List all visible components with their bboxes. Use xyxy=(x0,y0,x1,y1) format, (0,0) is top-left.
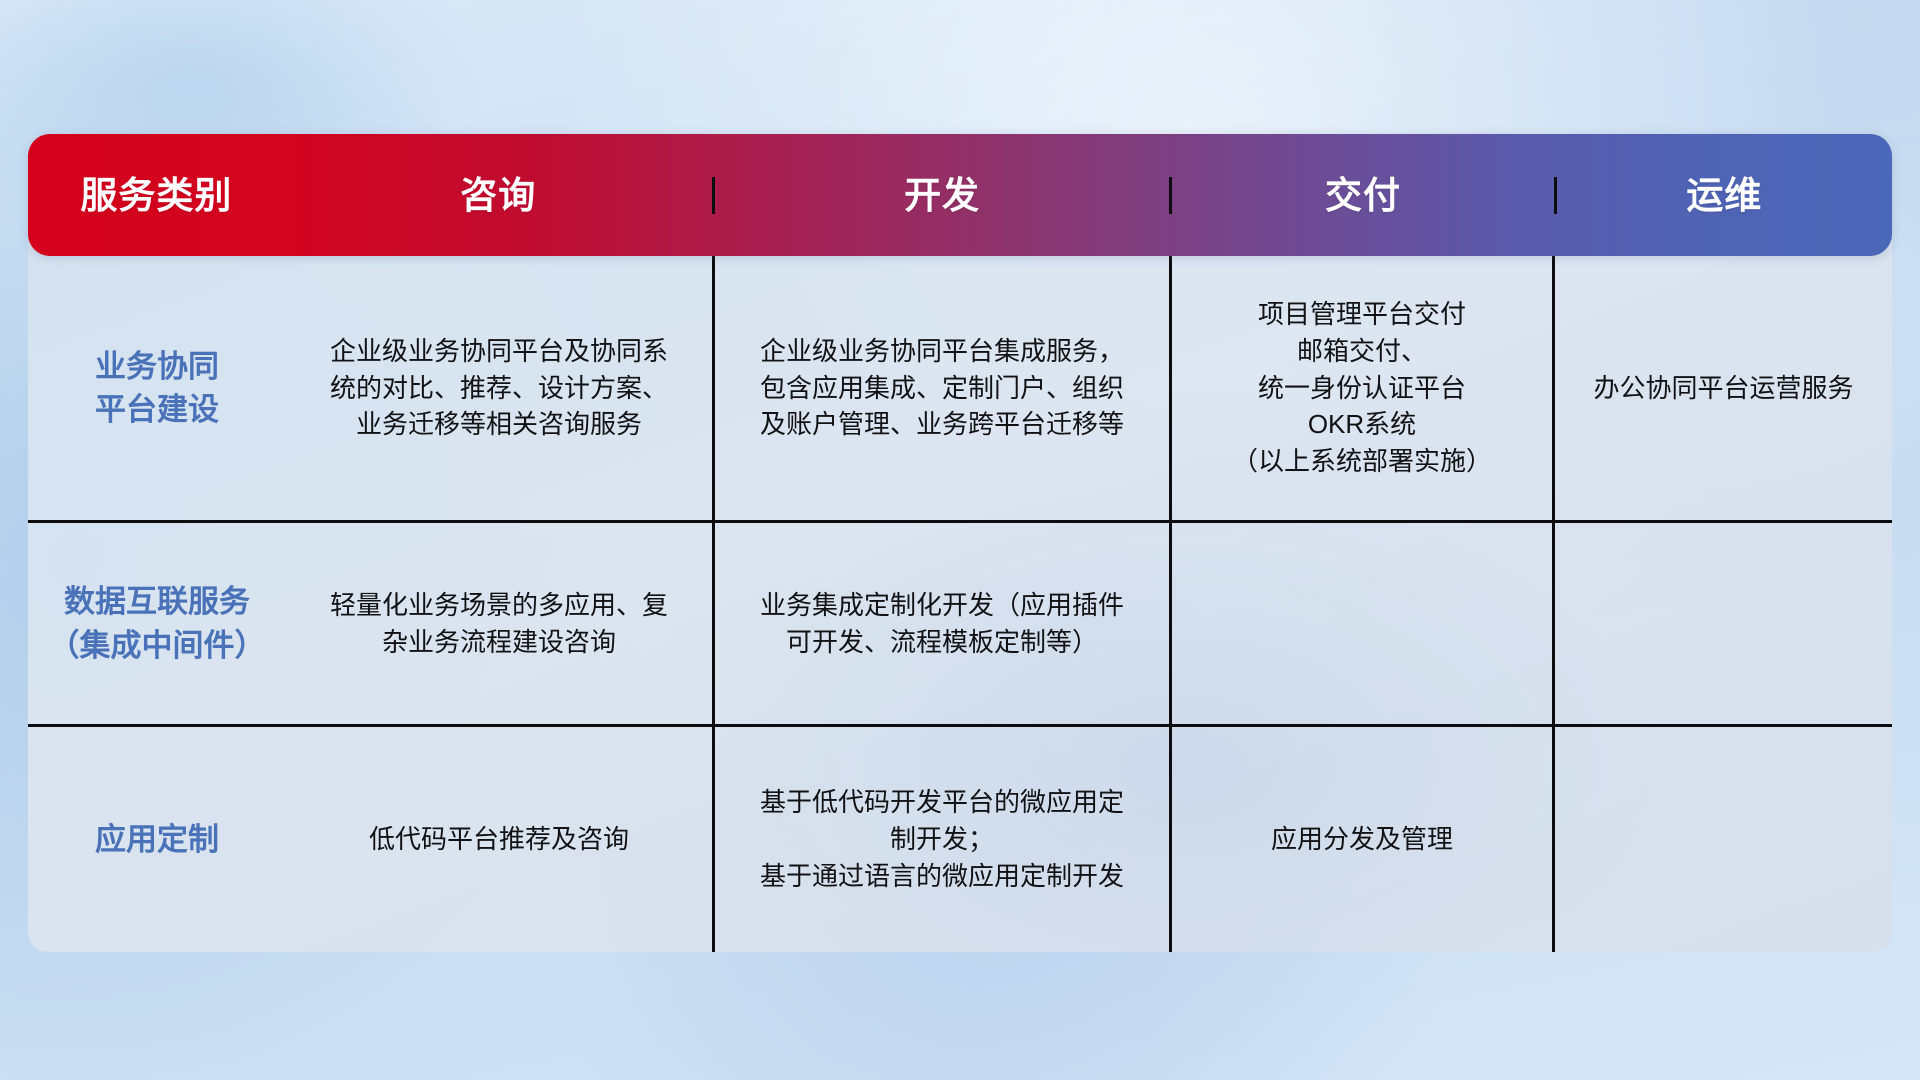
table-body: 业务协同 平台建设 企业级业务协同平台及协同系 统的对比、推荐、设计方案、 业务… xyxy=(28,242,1892,952)
cell-development: 企业级业务协同平台集成服务， 包含应用集成、定制门户、组织 及账户管理、业务跨平… xyxy=(715,256,1172,520)
cell-operations: 办公协同平台运营服务 xyxy=(1555,256,1892,520)
cell-consulting: 企业级业务协同平台及协同系 统的对比、推荐、设计方案、 业务迁移等相关咨询服务 xyxy=(286,256,715,520)
column-header-service-category: 服务类别 xyxy=(28,177,285,214)
column-header-consulting: 咨询 xyxy=(285,177,715,214)
column-header-delivery: 交付 xyxy=(1172,177,1556,214)
cell-operations xyxy=(1555,523,1892,724)
cell-consulting: 低代码平台推荐及咨询 xyxy=(286,727,715,952)
table-row: 业务协同 平台建设 企业级业务协同平台及协同系 统的对比、推荐、设计方案、 业务… xyxy=(28,256,1892,520)
row-category-label: 数据互联服务 （集成中间件） xyxy=(28,523,286,724)
cell-delivery xyxy=(1172,523,1555,724)
cell-development: 基于低代码开发平台的微应用定 制开发； 基于通过语言的微应用定制开发 xyxy=(715,727,1172,952)
cell-delivery: 项目管理平台交付 邮箱交付、 统一身份认证平台 OKR系统 （以上系统部署实施） xyxy=(1172,256,1555,520)
service-matrix-table: 服务类别 咨询 开发 交付 运维 业务协同 平台建设 企业级业务协同平台及协同系… xyxy=(28,134,1892,952)
row-category-label: 业务协同 平台建设 xyxy=(28,256,286,520)
cell-development: 业务集成定制化开发（应用插件 可开发、流程模板定制等） xyxy=(715,523,1172,724)
table-row: 应用定制 低代码平台推荐及咨询 基于低代码开发平台的微应用定 制开发； 基于通过… xyxy=(28,724,1892,952)
row-category-label: 应用定制 xyxy=(28,727,286,952)
table-row: 数据互联服务 （集成中间件） 轻量化业务场景的多应用、复 杂业务流程建设咨询 业… xyxy=(28,520,1892,724)
table-header-row: 服务类别 咨询 开发 交付 运维 xyxy=(28,134,1892,256)
column-header-development: 开发 xyxy=(715,177,1173,214)
column-header-operations: 运维 xyxy=(1557,177,1892,214)
cell-delivery: 应用分发及管理 xyxy=(1172,727,1555,952)
cell-consulting: 轻量化业务场景的多应用、复 杂业务流程建设咨询 xyxy=(286,523,715,724)
cell-operations xyxy=(1555,727,1892,952)
